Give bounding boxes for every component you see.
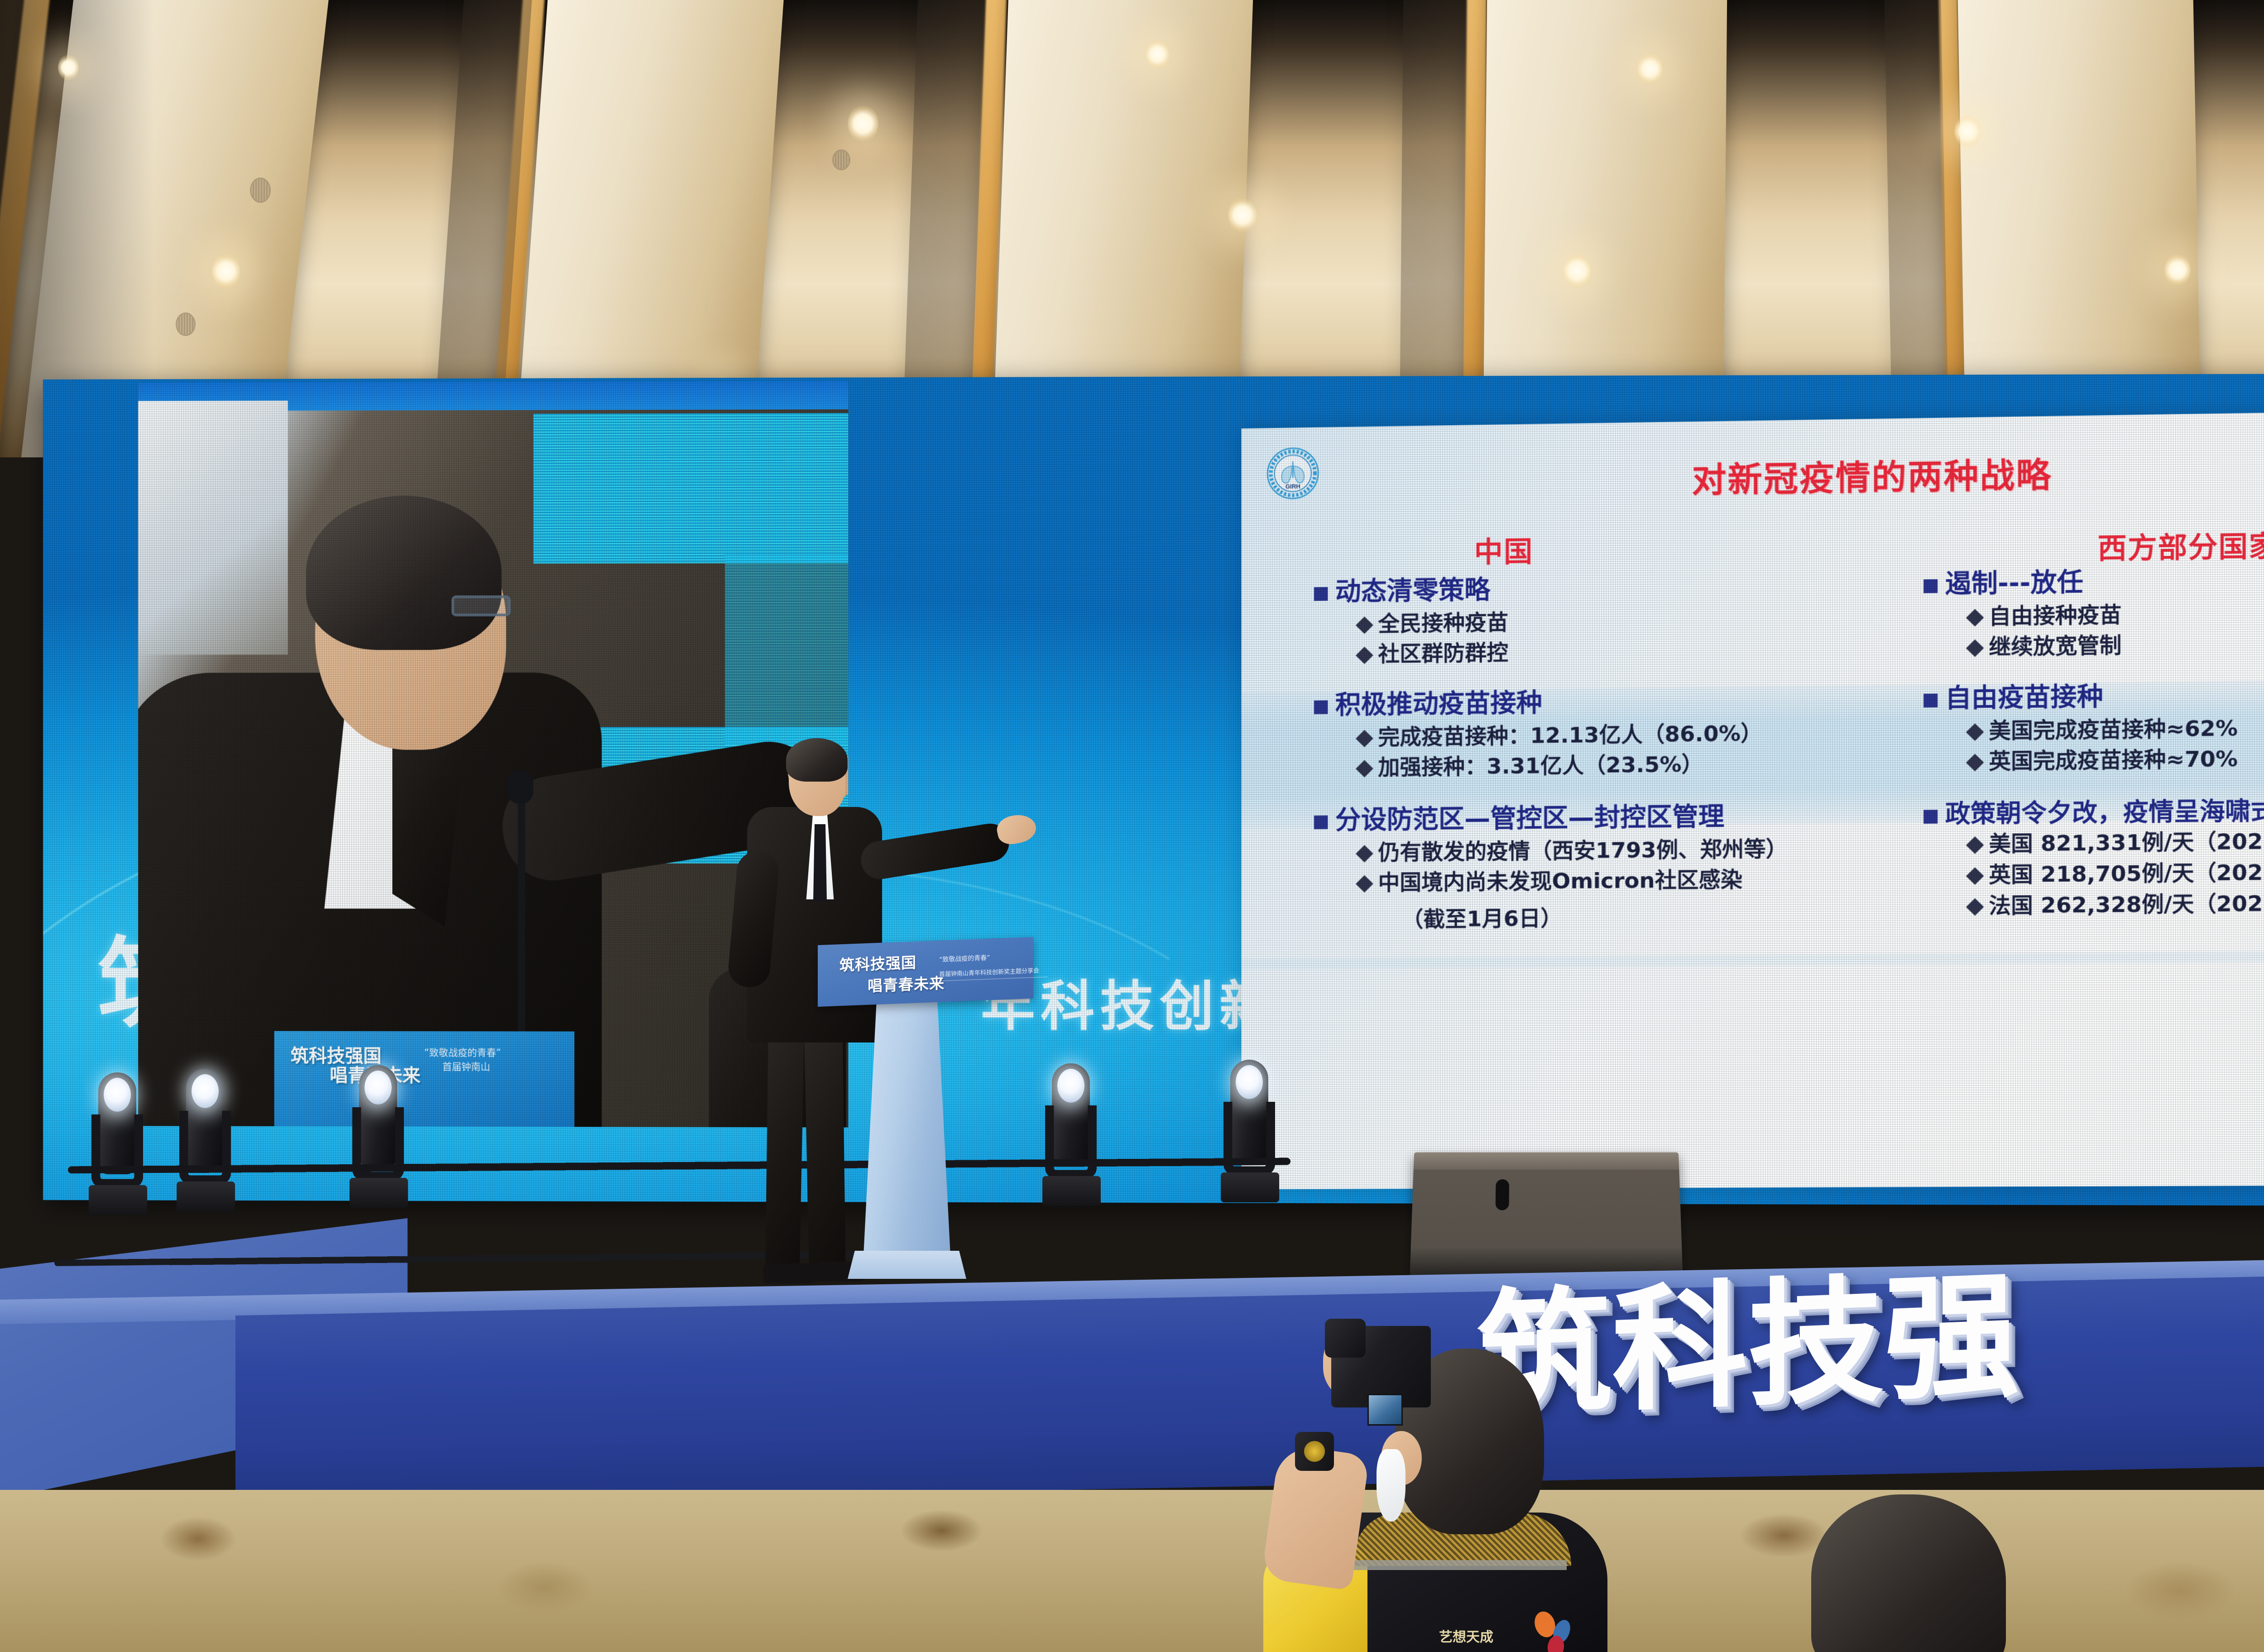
bullet-item: 社区群防群控 — [1358, 637, 1899, 667]
diamond-bullet-icon — [1356, 730, 1373, 747]
bullet-item: 完成疫苗接种：12.13亿人（86.0%） — [1358, 720, 1899, 750]
slide-title: 对新冠疫情的两种战略 — [1242, 441, 2264, 508]
led-feed-podium: 筑科技强国 唱青春未来 “致敬战疫的青春” 首届钟南山 — [274, 1031, 575, 1128]
slide-column-china: 动态清零策略 全民接种疫苗 社区群防群控 积极推动疫苗接种 — [1314, 571, 1899, 934]
ceiling-downlight — [848, 105, 878, 142]
conference-photo-scene: 筑科 年科技创新 — [0, 0, 2264, 1652]
photographer-vest-stripe — [1354, 1560, 1567, 1570]
bullet-item: 全民接种疫苗 — [1358, 606, 1899, 637]
bullet-heading: 政策朝令夕改，疫情呈海啸式爆发 — [1923, 795, 2264, 828]
bullet-heading: 动态清零策略 — [1314, 571, 1899, 607]
presenter-shoe — [763, 1263, 818, 1283]
bullet-heading: 分设防范区—管控区—封控区管理 — [1314, 801, 1899, 835]
audience-head — [1811, 1494, 2006, 1652]
ceiling-downlight — [58, 54, 79, 81]
ceiling-downlight — [212, 254, 240, 289]
presenter-tie — [813, 824, 827, 901]
bullet-item: 继续放宽管制 — [1969, 629, 2264, 660]
ceiling-vent — [250, 178, 271, 203]
camera-lcd-screen — [1367, 1394, 1403, 1426]
slide-column-western: 遏制---放任 自由接种疫苗 继续放宽管制 自由疫苗接种 — [1923, 563, 2264, 923]
photographer-face-mask — [1377, 1449, 1405, 1522]
bullet-item: 英国 218,705例/天（2022.1.5） — [1969, 859, 2264, 888]
square-bullet-icon — [1923, 810, 1938, 824]
ceiling-downlight — [1228, 197, 1257, 233]
diamond-bullet-icon — [1356, 875, 1373, 893]
bullet-heading: 遏制---放任 — [1923, 563, 2264, 599]
bullet-note: （截至1月6日） — [1401, 898, 1899, 933]
column-header-western: 西方部分国家 — [2097, 523, 2264, 567]
square-bullet-icon — [1314, 587, 1328, 601]
bullet-item: 加强接种：3.31亿人（23.5%） — [1358, 751, 1899, 780]
diamond-bullet-icon — [1966, 898, 1984, 916]
ceiling-downlight — [1954, 115, 1981, 148]
podium-column — [863, 996, 951, 1273]
podium-event: 首届钟南山青年科技创新奖主题分享会 — [939, 965, 1048, 978]
column-header-china: 中国 — [1474, 528, 1534, 571]
ceiling-downlight — [2164, 254, 2191, 286]
ceiling-downlight — [1637, 53, 1663, 84]
led-feed-podium-sub: “致敬战疫的青春” 首届钟南山 — [424, 1047, 501, 1073]
ceiling-downlight — [1563, 254, 1591, 288]
diamond-bullet-icon — [1966, 639, 1984, 657]
led-feed-podium-text: 筑科技强国 唱青春未来 — [291, 1047, 421, 1086]
watch-face — [1304, 1441, 1325, 1462]
camera-lens — [1325, 1319, 1366, 1358]
square-bullet-icon — [1314, 700, 1328, 714]
bullet-item: 仍有散发的疫情（西安1793例、郑州等） — [1358, 836, 1899, 865]
audience-member — [1784, 1494, 2038, 1652]
podium-sign-panel: 筑科技强国 唱青春未来 “致敬战疫的青春” 首届钟南山青年科技创新奖主题分享会 — [818, 937, 1033, 1007]
diamond-bullet-icon — [1356, 760, 1373, 778]
bullet-item: 自由接种疫苗 — [1969, 598, 2264, 629]
square-bullet-icon — [1923, 694, 1938, 708]
diamond-bullet-icon — [1966, 723, 1984, 741]
led-video-feed: 筑科技强国 唱青春未来 “致敬战疫的青春” 首届钟南山 — [138, 381, 848, 1128]
bullet-item: 英国完成疫苗接种≈70% — [1969, 744, 2264, 774]
diamond-bullet-icon — [1966, 836, 1984, 854]
ceiling-vent — [832, 149, 850, 170]
bullet-item: 法国 262,328例/天（2022.1.5） — [1969, 890, 2264, 918]
bullet-item: 美国完成疫苗接种≈62% — [1969, 714, 2264, 744]
diamond-bullet-icon — [1966, 867, 1984, 885]
vest-brand-text: 艺想天成 — [1439, 1626, 1493, 1646]
diamond-bullet-icon — [1356, 647, 1373, 664]
podium-base — [848, 1251, 966, 1279]
diamond-bullet-icon — [1966, 609, 1984, 626]
presentation-slide: GIRH 对新冠疫情的两种战略 中国 西方部分国家 动态清零策略 全民接种疫苗 — [1242, 409, 2264, 1189]
diamond-bullet-icon — [1356, 845, 1373, 863]
ceiling-downlight — [1146, 40, 1169, 69]
bullet-item: 美国 821,331例/天（2022.1.5） — [1969, 828, 2264, 857]
audience-photographer: 艺想天成 — [1218, 1313, 1671, 1652]
diamond-bullet-icon — [1966, 754, 1984, 772]
bullet-heading: 自由疫苗接种 — [1923, 678, 2264, 713]
square-bullet-icon — [1923, 579, 1938, 593]
bullet-heading: 积极推动疫苗接种 — [1314, 685, 1899, 720]
bullet-item: 中国境内尚未发现Omicron社区感染 — [1358, 867, 1899, 895]
ceiling-vent — [176, 312, 196, 336]
square-bullet-icon — [1314, 816, 1328, 830]
diamond-bullet-icon — [1356, 616, 1373, 634]
